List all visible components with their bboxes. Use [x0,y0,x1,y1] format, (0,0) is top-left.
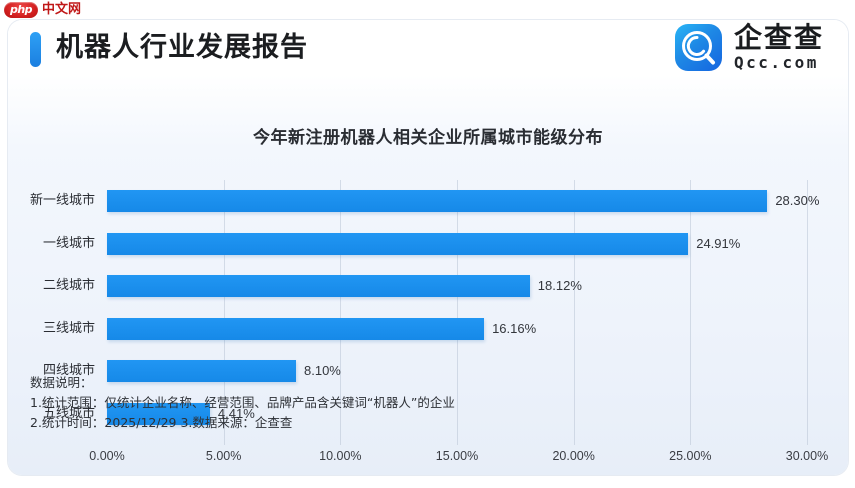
bar[interactable] [107,275,530,297]
qcc-brand-en: Qcc.com [734,55,824,71]
bar[interactable] [107,233,688,255]
qcc-brand[interactable]: 企查查 Qcc.com [675,24,824,71]
bar[interactable] [107,190,767,212]
bar-row: 新一线城市28.30% [107,180,807,222]
php-site-logo: php 中文网 [4,1,81,19]
title-accent-bar [30,32,41,67]
notes-heading: 数据说明： [30,373,455,393]
bar-value-label: 28.30% [775,190,819,212]
qcc-brand-text: 企查查 Qcc.com [734,24,824,71]
bar-row: 三线城市16.16% [107,308,807,350]
x-tick-label: 30.00% [786,449,828,463]
category-label: 新一线城市 [30,190,95,212]
x-tick-label: 25.00% [669,449,711,463]
report-card: 机器人行业发展报告 企查查 Qcc.com 今年新注册机器人相关企业所属城市能级… [8,20,848,475]
x-axis: 0.00%5.00%10.00%15.00%20.00%25.00%30.00% [107,449,807,469]
notes-line-1: 1.统计范围：仅统计企业名称、经营范围、品牌产品含关键词“机器人”的企业 [30,393,455,413]
qcc-brand-cn: 企查查 [734,24,824,52]
php-site-name: 中文网 [42,2,81,18]
bar-value-label: 16.16% [492,318,536,340]
screenshot-root: php 中文网 机器人行业发展报告 企查查 Qcc.com [0,0,855,488]
category-label: 一线城市 [43,233,95,255]
category-label: 二线城市 [43,275,95,297]
bar-value-label: 24.91% [696,233,740,255]
x-tick-label: 15.00% [436,449,478,463]
x-tick-label: 20.00% [552,449,594,463]
card-header: 机器人行业发展报告 企查查 Qcc.com [8,20,848,75]
x-tick-label: 10.00% [319,449,361,463]
category-label: 三线城市 [43,318,95,340]
chart-area: 今年新注册机器人相关企业所属城市能级分布 新一线城市28.30%一线城市24.9… [8,75,848,475]
php-badge-icon: php [4,2,38,18]
chart-title: 今年新注册机器人相关企业所属城市能级分布 [8,123,848,148]
x-tick-label: 0.00% [89,449,124,463]
bar[interactable] [107,318,484,340]
bar-value-label: 18.12% [538,275,582,297]
x-tick-label: 5.00% [206,449,241,463]
page-title: 机器人行业发展报告 [56,28,308,68]
bar-row: 一线城市24.91% [107,223,807,265]
qcc-magnifier-icon [675,24,722,71]
gridline-30.00% [807,180,808,445]
notes-line-2: 2.统计时间：2025/12/29 3.数据来源：企查查 [30,413,455,433]
data-notes: 数据说明： 1.统计范围：仅统计企业名称、经营范围、品牌产品含关键词“机器人”的… [30,373,455,433]
bar-row: 二线城市18.12% [107,265,807,307]
